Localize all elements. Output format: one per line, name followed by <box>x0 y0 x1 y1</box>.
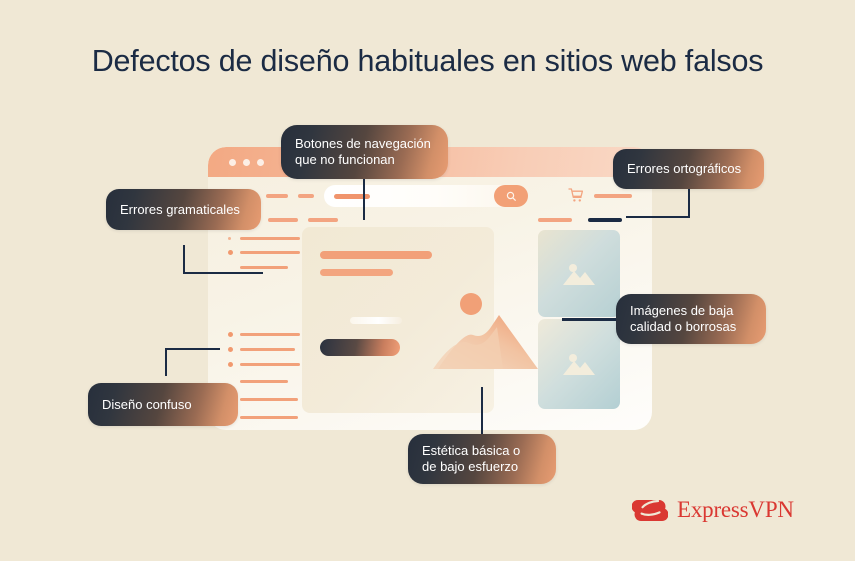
shopping-cart-icon[interactable] <box>568 187 584 205</box>
list-item-bar <box>240 251 300 254</box>
expressvpn-logo[interactable]: ExpressVPN <box>632 494 794 526</box>
expressvpn-logo-mark <box>632 494 668 526</box>
leader-line-confusing-v <box>165 348 167 376</box>
leader-line-low-quality <box>562 318 616 321</box>
nav-link-bar[interactable] <box>266 194 288 198</box>
leader-line-aesthetic <box>481 387 483 435</box>
infographic-canvas: Defectos de diseño habituales en sitios … <box>0 0 855 561</box>
bullet-dot-icon <box>228 362 233 367</box>
nav-sub-bar <box>268 218 298 222</box>
list-item-bar <box>240 380 288 383</box>
window-dot-maximize-icon <box>257 159 264 166</box>
list-item-bar <box>240 416 298 419</box>
callout-low-quality-images[interactable]: Imágenes de baja calidad o borrosas <box>616 294 766 344</box>
callout-grammar-errors[interactable]: Errores gramaticales <box>106 189 261 230</box>
bullet-dot-icon <box>228 250 233 255</box>
list-item <box>240 377 300 385</box>
leader-line-broken-nav <box>363 178 365 220</box>
page-title: Defectos de diseño habituales en sitios … <box>0 44 855 79</box>
browser-nav-row <box>208 185 652 209</box>
search-input[interactable] <box>324 185 528 207</box>
leader-line-spelling-h <box>626 216 690 218</box>
leader-line-grammar-v <box>183 245 185 274</box>
image-placeholder-icon <box>560 350 598 378</box>
list-item <box>240 263 300 271</box>
leader-line-spelling-v <box>688 189 690 218</box>
cta-button[interactable] <box>320 339 400 356</box>
callout-spelling-errors[interactable]: Errores ortográficos <box>613 149 764 189</box>
search-icon <box>506 191 517 202</box>
expressvpn-wordmark: ExpressVPN <box>677 497 794 523</box>
list-item <box>228 330 300 338</box>
list-item-bar <box>240 363 300 366</box>
subheading-bar <box>320 269 393 276</box>
list-item <box>240 395 300 403</box>
window-dot-minimize-icon <box>243 159 250 166</box>
list-item-bar <box>240 398 298 401</box>
callout-confusing-design[interactable]: Diseño confuso <box>88 383 238 426</box>
search-button[interactable] <box>494 185 528 207</box>
nav-link-bar[interactable] <box>298 194 314 198</box>
callout-broken-nav-buttons[interactable]: Botones de navegación que no funcionan <box>281 125 448 179</box>
list-item <box>228 360 300 368</box>
leader-line-confusing-h <box>165 348 220 350</box>
nav-sub-bar <box>538 218 572 222</box>
list-item <box>228 345 300 353</box>
list-item-bar <box>240 333 300 336</box>
window-dot-close-icon <box>229 159 236 166</box>
bullet-dot-icon <box>228 332 233 337</box>
list-item-bar <box>240 237 300 240</box>
image-placeholder-card <box>538 319 620 409</box>
list-item <box>228 234 300 242</box>
list-item-bar <box>240 348 295 351</box>
nav-link-bar[interactable] <box>594 194 632 198</box>
image-placeholder-icon <box>560 260 598 288</box>
leader-line-grammar-h <box>183 272 263 274</box>
list-item <box>228 248 300 256</box>
browser-mockup <box>208 147 652 430</box>
mountain-image-icon <box>433 287 543 377</box>
heading-bar <box>320 251 432 259</box>
list-item <box>240 413 300 421</box>
callout-basic-aesthetic[interactable]: Estética básica o de bajo esfuerzo <box>408 434 556 484</box>
body-text-bar <box>350 317 402 324</box>
image-placeholder-card <box>538 230 620 317</box>
list-item-bar <box>240 266 288 269</box>
nav-sub-bar-dark <box>588 218 622 222</box>
bullet-dot-icon <box>228 347 233 352</box>
nav-sub-bar <box>308 218 338 222</box>
bullet-dot-icon <box>228 237 231 240</box>
